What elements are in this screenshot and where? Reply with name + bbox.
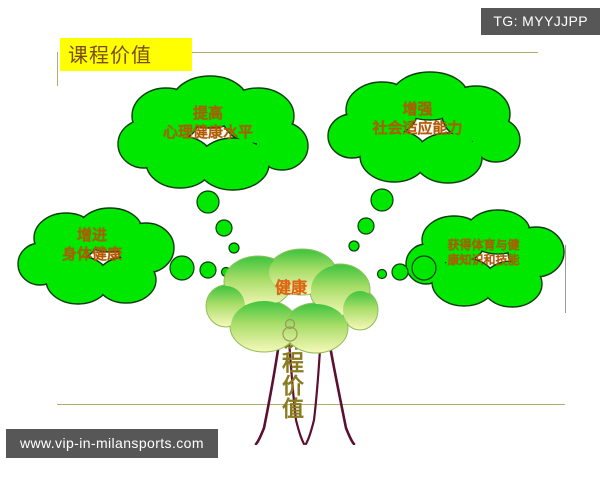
frame-rule-left (57, 52, 58, 86)
watermark-top: TG: MYYJJPP (481, 8, 600, 35)
branch-label-mental: 提高 心理健康水平 (118, 104, 298, 142)
watermark-bottom: www.vip-in-milansports.com (6, 429, 218, 458)
center-canopy-label: 健康 (206, 278, 376, 298)
frame-rule-top (192, 52, 538, 53)
slide-canvas: 课程价值 提高 心理健康水平 (0, 0, 600, 480)
center-canopy[interactable] (206, 248, 378, 358)
page-title: 课程价值 (68, 42, 193, 69)
bubble-trail-knowledge (370, 250, 440, 286)
branch-label-physical: 增进 身体健康 (22, 226, 162, 264)
branch-label-social: 增强 社会适应能力 (330, 100, 505, 138)
